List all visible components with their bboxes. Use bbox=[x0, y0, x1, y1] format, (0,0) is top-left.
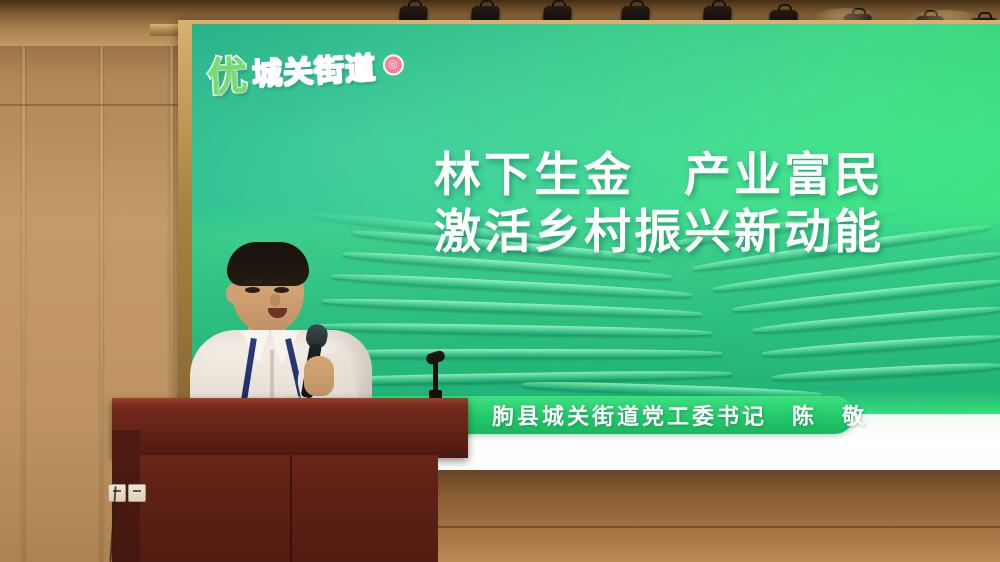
wall-seam-1 bbox=[22, 0, 25, 562]
slide-headline: 林下生金 产业富民 激活乡村振兴新动能 bbox=[434, 146, 954, 261]
wall-socket-icon bbox=[128, 484, 146, 502]
photo-scene: 优 城关街道 ◎ 林下生金 产业富民 激活乡村振兴新动能 朐县城关街道党工委书记… bbox=[0, 0, 1000, 562]
eyebrow-left bbox=[244, 279, 262, 283]
wall-horizontal-seam bbox=[0, 104, 196, 106]
eye-right bbox=[274, 287, 289, 293]
eye-left bbox=[245, 287, 260, 293]
nose bbox=[270, 294, 280, 306]
wall-socket-icon bbox=[108, 484, 126, 502]
headline-line-2: 激活乡村振兴新动能 bbox=[434, 203, 954, 260]
podium-top-ledge bbox=[112, 398, 468, 458]
podium-body bbox=[138, 455, 438, 562]
wall-seam-2 bbox=[100, 0, 103, 562]
podium-panel-seam bbox=[290, 455, 292, 562]
slide-logo: 优 城关街道 ◎ bbox=[206, 35, 406, 103]
headline-line-1: 林下生金 产业富民 bbox=[434, 146, 954, 203]
logo-mark-icon: ◎ bbox=[382, 53, 404, 75]
ear bbox=[226, 284, 239, 303]
eyebrow-right bbox=[272, 279, 290, 283]
logo-lead-char: 优 bbox=[206, 43, 250, 103]
hair bbox=[227, 242, 309, 286]
gooseneck-microphone-icon bbox=[424, 352, 446, 400]
logo-text: 城关街道 bbox=[251, 43, 377, 93]
hand bbox=[304, 356, 334, 396]
